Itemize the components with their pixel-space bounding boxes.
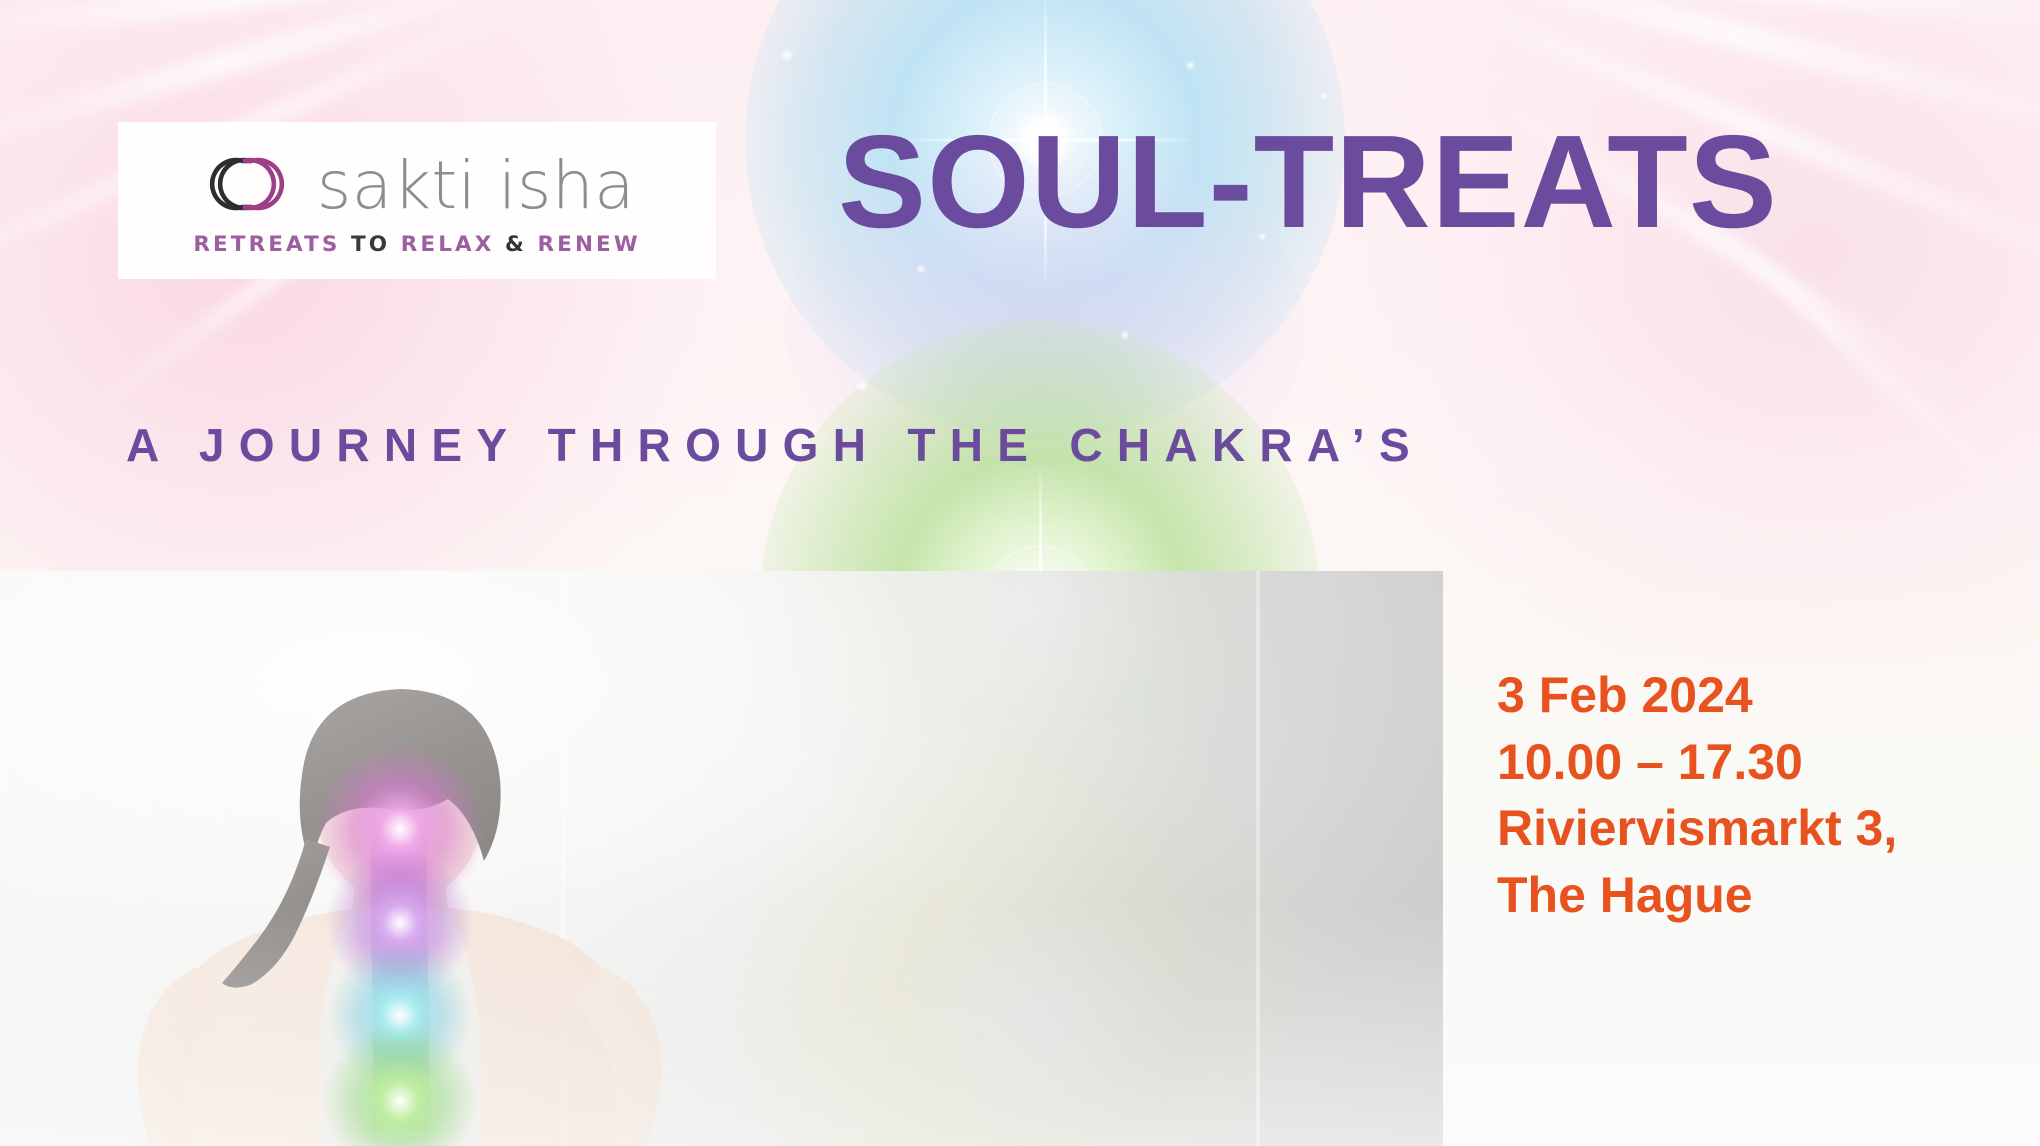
- sparkle-icon: [916, 264, 926, 274]
- logo-wordmark: sakti isha: [317, 153, 635, 219]
- event-time: 10.00 – 17.30: [1497, 729, 1967, 796]
- sparkle-icon: [780, 48, 794, 62]
- page-title: SOUL-TREATS: [838, 116, 1778, 248]
- event-details: 3 Feb 2024 10.00 – 17.30 Riviervismarkt …: [1497, 662, 1967, 928]
- logo-tagline: RETREATS TO RELAX & RENEW: [193, 232, 640, 257]
- interlocking-circles-mark: [199, 151, 295, 222]
- logo-row: sakti isha: [199, 151, 635, 222]
- event-address-line-2: The Hague: [1497, 862, 1967, 929]
- sparkle-icon: [1320, 92, 1328, 100]
- event-date: 3 Feb 2024: [1497, 662, 1967, 729]
- poster-canvas: sakti isha RETREATS TO RELAX & RENEW SOU…: [0, 0, 2040, 1146]
- woman-back-figure: [0, 571, 1443, 1146]
- sparkle-icon: [1120, 330, 1130, 340]
- event-address-line-1: Riviervismarkt 3,: [1497, 795, 1967, 862]
- chakra-photo-panel: [0, 571, 1443, 1146]
- sparkle-icon: [1185, 60, 1196, 71]
- sakti-isha-logo[interactable]: sakti isha RETREATS TO RELAX & RENEW: [118, 122, 716, 279]
- sparkle-icon: [856, 380, 868, 392]
- page-subtitle: A JOURNEY THROUGH THE CHAKRA’S: [126, 422, 1424, 468]
